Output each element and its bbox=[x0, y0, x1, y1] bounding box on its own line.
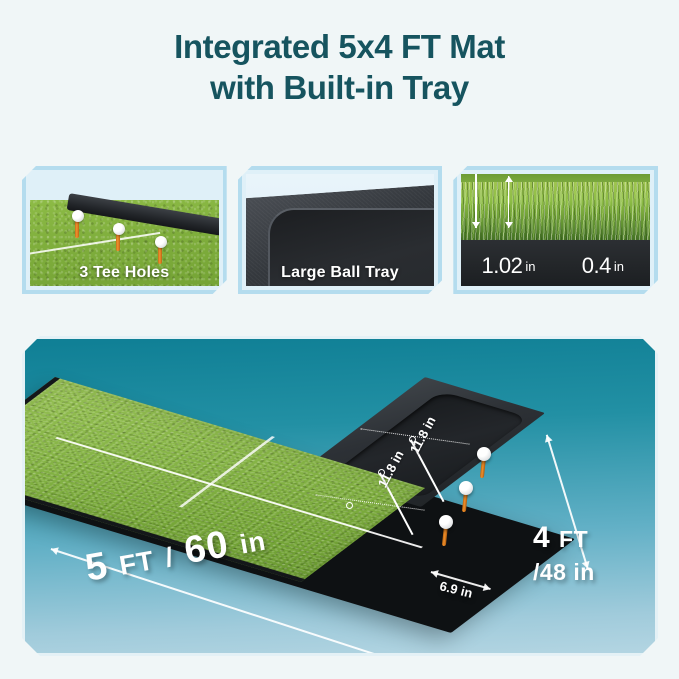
feature-card-turf-thickness-image: 1.02 in 0.4 in bbox=[461, 174, 650, 286]
feature-card-ball-tray: Large Ball Tray bbox=[238, 166, 443, 294]
page-title-line-1: Integrated 5x4 FT Mat bbox=[0, 26, 679, 67]
golf-ball-icon bbox=[155, 236, 167, 248]
feature-card-tee-holes: 3 Tee Holes bbox=[22, 166, 227, 294]
depth-line-2: /48 in bbox=[533, 556, 595, 589]
spacing-endpoint-dot bbox=[346, 502, 353, 509]
depth-line-1: 4 FT bbox=[533, 521, 595, 556]
measurement-value: 1.02 bbox=[482, 253, 523, 279]
measurement-total-height: 1.02 in bbox=[461, 253, 555, 279]
page-title: Integrated 5x4 FT Mat with Built-in Tray bbox=[0, 26, 679, 108]
measurement-unit: in bbox=[525, 259, 535, 274]
width-unit: FT bbox=[117, 545, 157, 581]
page-title-line-2: with Built-in Tray bbox=[0, 67, 679, 108]
feature-card-turf-thickness: 1.02 in 0.4 in bbox=[453, 166, 658, 294]
golf-ball-icon bbox=[477, 447, 491, 461]
golf-mat-illustration: 11.8 in 11.8 in bbox=[25, 339, 658, 656]
feature-cards-row: 3 Tee Holes Large Ball Tray 1.02 in 0.4 bbox=[22, 166, 658, 294]
backing-height-arrow-icon bbox=[508, 176, 510, 228]
feature-card-caption: Large Ball Tray bbox=[242, 264, 439, 282]
golf-ball-icon bbox=[439, 515, 453, 529]
turf-blades-icon bbox=[461, 182, 650, 244]
measurement-unit: in bbox=[614, 259, 624, 274]
total-height-arrow-icon bbox=[475, 174, 477, 228]
measurement-backing-height: 0.4 in bbox=[556, 253, 650, 279]
depth-value: 4 bbox=[533, 521, 550, 554]
width-inches: 60 bbox=[181, 523, 232, 572]
golf-ball-icon bbox=[72, 210, 84, 222]
turf-measurements: 1.02 in 0.4 in bbox=[461, 238, 650, 286]
measurement-value: 0.4 bbox=[582, 253, 611, 279]
width-inch-unit: in bbox=[238, 526, 269, 560]
hero-product-panel: 11.8 in 11.8 in bbox=[22, 336, 658, 656]
feature-card-caption: 3 Tee Holes bbox=[26, 264, 223, 282]
depth-unit: FT bbox=[559, 526, 588, 552]
golf-ball-icon bbox=[113, 223, 125, 235]
dimension-label-depth: 4 FT /48 in bbox=[533, 521, 595, 589]
golf-ball-icon bbox=[459, 481, 473, 495]
width-separator: / bbox=[163, 542, 177, 573]
